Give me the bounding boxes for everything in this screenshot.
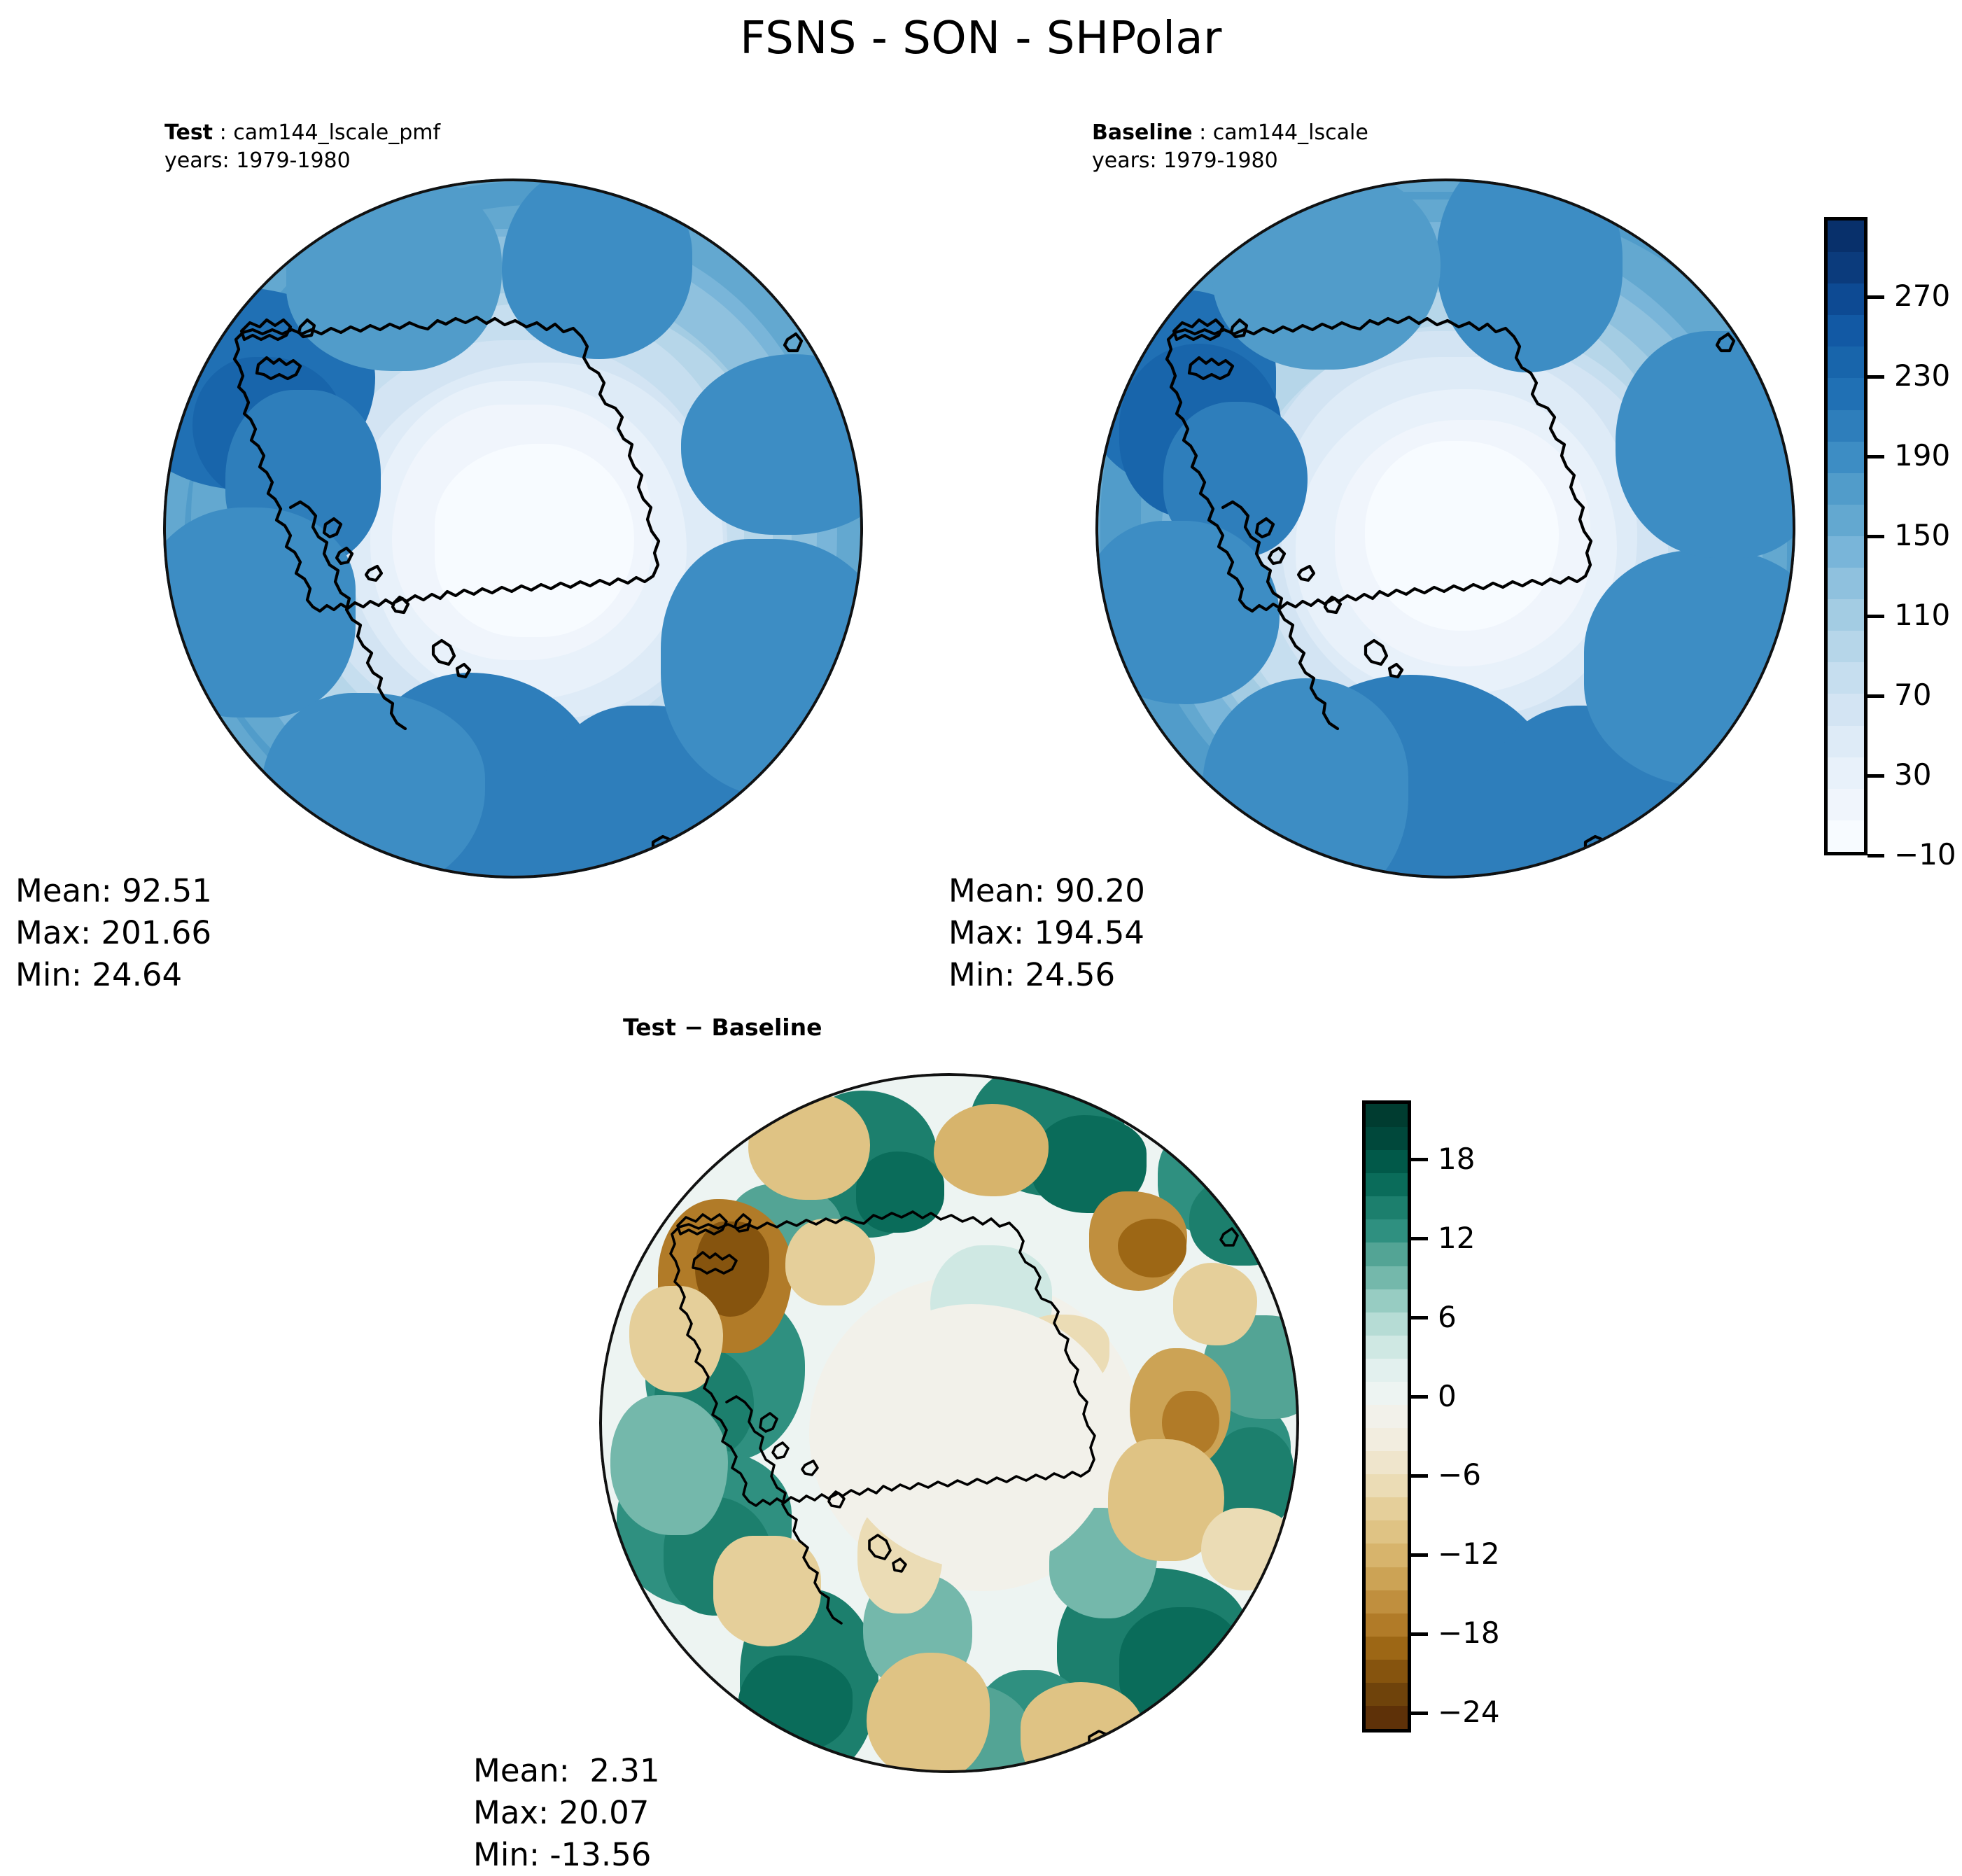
colorbar-band	[1366, 1336, 1408, 1359]
colorbar-band	[1828, 820, 1864, 852]
colorbar-band	[1366, 1312, 1408, 1336]
colorbar-tick-line	[1868, 295, 1884, 299]
colorbar-band	[1828, 473, 1864, 505]
colorbar-tick-line	[1411, 1395, 1428, 1399]
colorbar-band	[1828, 505, 1864, 536]
anomaly-patch	[785, 1219, 874, 1306]
colorbar-band	[1366, 1428, 1408, 1451]
colorbar-band	[1366, 1660, 1408, 1683]
colorbar-band	[1828, 568, 1864, 599]
page-title: FSNS - SON - SHPolar	[0, 13, 1962, 64]
colorbar-band	[1366, 1567, 1408, 1590]
contour-band	[1365, 441, 1560, 630]
colorbar-band	[1366, 1219, 1408, 1242]
colorbar-band	[1366, 1405, 1408, 1428]
colorbar-band	[1366, 1127, 1408, 1150]
contour-band	[435, 444, 634, 637]
colorbar-tick-line	[1411, 1553, 1428, 1557]
anomaly-patch	[610, 1395, 729, 1535]
anomaly-patch	[713, 1536, 821, 1646]
colorbar-tick-label: 18	[1438, 1144, 1475, 1174]
colorbar-tick-label: −18	[1438, 1618, 1500, 1648]
colorbar-band	[1366, 1706, 1408, 1729]
contour-patch	[1616, 331, 1795, 559]
colorbar-tick-label: 12	[1438, 1224, 1475, 1253]
colorbar-band	[1366, 1613, 1408, 1637]
colorbar-tick-line	[1868, 854, 1884, 857]
colorbar-band	[1828, 378, 1864, 409]
baseline-map-disc	[1095, 178, 1795, 878]
anomaly-patch	[629, 1286, 723, 1392]
baseline-header-years: years: 1979-1980	[1092, 147, 1368, 175]
colorbar-tick-label: −6	[1438, 1460, 1481, 1490]
colorbar-band	[1828, 694, 1864, 725]
test-map-panel	[163, 178, 863, 878]
anomaly-patch	[1201, 1508, 1299, 1591]
colorbar-band	[1366, 1520, 1408, 1543]
contour-band	[837, 1304, 1117, 1570]
anomaly-patch	[856, 1151, 944, 1233]
colorbar-band	[1828, 631, 1864, 662]
difference-colorbar	[1362, 1100, 1411, 1732]
colorbar-band	[1366, 1150, 1408, 1173]
baseline-header-value: cam144_lscale	[1213, 120, 1368, 145]
test-header-sep: :	[213, 120, 233, 145]
difference-map-panel	[599, 1073, 1299, 1773]
difference-stats: Mean: 2.31 Max: 20.07 Min: -13.56	[473, 1750, 660, 1876]
colorbar-band	[1828, 662, 1864, 694]
colorbar-tick-line	[1411, 1632, 1428, 1636]
colorbar-band	[1828, 536, 1864, 568]
colorbar-band	[1366, 1683, 1408, 1706]
difference-colorbar-ticks: 181260−6−12−18−24	[1411, 1100, 1558, 1732]
colorbar-tick-label: 270	[1894, 281, 1950, 311]
colorbar-band	[1828, 442, 1864, 473]
colorbar-band	[1828, 599, 1864, 631]
colorbar-band	[1828, 757, 1864, 789]
colorbar-band	[1366, 1497, 1408, 1520]
colorbar-tick-line	[1411, 1474, 1428, 1478]
colorbar-band	[1366, 1242, 1408, 1266]
baseline-map-panel	[1095, 178, 1795, 878]
colorbar-band	[1366, 1104, 1408, 1127]
contour-patch	[163, 507, 356, 718]
colorbar-band	[1828, 315, 1864, 346]
colorbar-tick-label: 150	[1894, 521, 1950, 550]
colorbar-band	[1828, 346, 1864, 378]
test-header-key: Test	[164, 120, 213, 145]
colorbar-band	[1366, 1451, 1408, 1474]
baseline-stats: Mean: 90.20 Max: 194.54 Min: 24.56	[948, 870, 1145, 996]
contour-patch	[261, 693, 485, 878]
colorbar-tick-label: 190	[1894, 441, 1950, 470]
baseline-map-contour-fill	[1095, 178, 1795, 878]
colorbar-tick-label: −10	[1894, 840, 1956, 869]
test-map-contour-fill	[163, 178, 863, 878]
difference-map-contour-fill	[599, 1073, 1299, 1773]
contour-patch	[502, 178, 692, 359]
colorbar-tick-line	[1868, 375, 1884, 379]
test-panel-header: Test : cam144_lscale_pmf years: 1979-198…	[164, 119, 440, 174]
colorbar-band	[1366, 1382, 1408, 1405]
anomaly-patch	[748, 1093, 870, 1200]
test-stats: Mean: 92.51 Max: 201.66 Min: 24.64	[15, 870, 212, 996]
baseline-header-key: Baseline	[1092, 120, 1193, 145]
colorbar-band	[1366, 1543, 1408, 1567]
colorbar-tick-line	[1411, 1158, 1428, 1161]
colorbar-band	[1366, 1289, 1408, 1312]
colorbar-tick-label: 110	[1894, 601, 1950, 630]
contour-patch	[1203, 678, 1408, 878]
contour-patch	[1584, 550, 1795, 787]
colorbar-band	[1828, 283, 1864, 315]
anomaly-patch	[1118, 1219, 1186, 1277]
colorbar-band	[1828, 789, 1864, 820]
colorbar-tick-line	[1868, 774, 1884, 778]
colorbar-tick-label: −24	[1438, 1697, 1500, 1727]
contour-patch	[1436, 178, 1622, 372]
colorbar-tick-label: −12	[1438, 1539, 1500, 1569]
colorbar-tick-label: 70	[1894, 680, 1931, 710]
anomaly-patch	[1189, 1175, 1296, 1265]
colorbar-band	[1828, 252, 1864, 283]
test-header-years: years: 1979-1980	[164, 147, 440, 175]
colorbar-band	[1828, 220, 1864, 252]
anomaly-patch	[934, 1104, 1049, 1196]
colorbar-band	[1366, 1474, 1408, 1497]
test-map-disc	[163, 178, 863, 878]
colorbar-band	[1828, 726, 1864, 757]
main-colorbar	[1824, 217, 1868, 855]
baseline-panel-header: Baseline : cam144_lscale years: 1979-198…	[1092, 119, 1368, 174]
colorbar-tick-line	[1868, 694, 1884, 698]
colorbar-band	[1366, 1590, 1408, 1613]
main-colorbar-ticks: 2702301901501107030−10	[1868, 217, 1962, 855]
anomaly-patch	[1021, 1682, 1144, 1773]
colorbar-tick-line	[1868, 535, 1884, 538]
contour-patch	[286, 178, 502, 371]
colorbar-tick-label: 6	[1438, 1303, 1457, 1332]
colorbar-band	[1366, 1359, 1408, 1382]
colorbar-tick-line	[1411, 1711, 1428, 1715]
test-header-value: cam144_lscale_pmf	[233, 120, 440, 145]
colorbar-band	[1366, 1637, 1408, 1660]
colorbar-band	[1366, 1196, 1408, 1219]
colorbar-tick-line	[1411, 1316, 1428, 1319]
difference-map-disc	[599, 1073, 1299, 1773]
colorbar-band	[1366, 1266, 1408, 1289]
colorbar-tick-label: 0	[1438, 1382, 1457, 1411]
colorbar-tick-label: 30	[1894, 760, 1931, 790]
anomaly-patch	[738, 1655, 852, 1751]
colorbar-tick-line	[1411, 1237, 1428, 1240]
colorbar-band	[1828, 410, 1864, 442]
colorbar-tick-label: 230	[1894, 361, 1950, 391]
anomaly-patch	[1173, 1263, 1257, 1345]
difference-panel-header: Test − Baseline	[623, 1014, 822, 1041]
baseline-header-sep: :	[1193, 120, 1213, 145]
colorbar-tick-line	[1868, 455, 1884, 458]
colorbar-tick-line	[1868, 615, 1884, 618]
colorbar-band	[1366, 1173, 1408, 1196]
